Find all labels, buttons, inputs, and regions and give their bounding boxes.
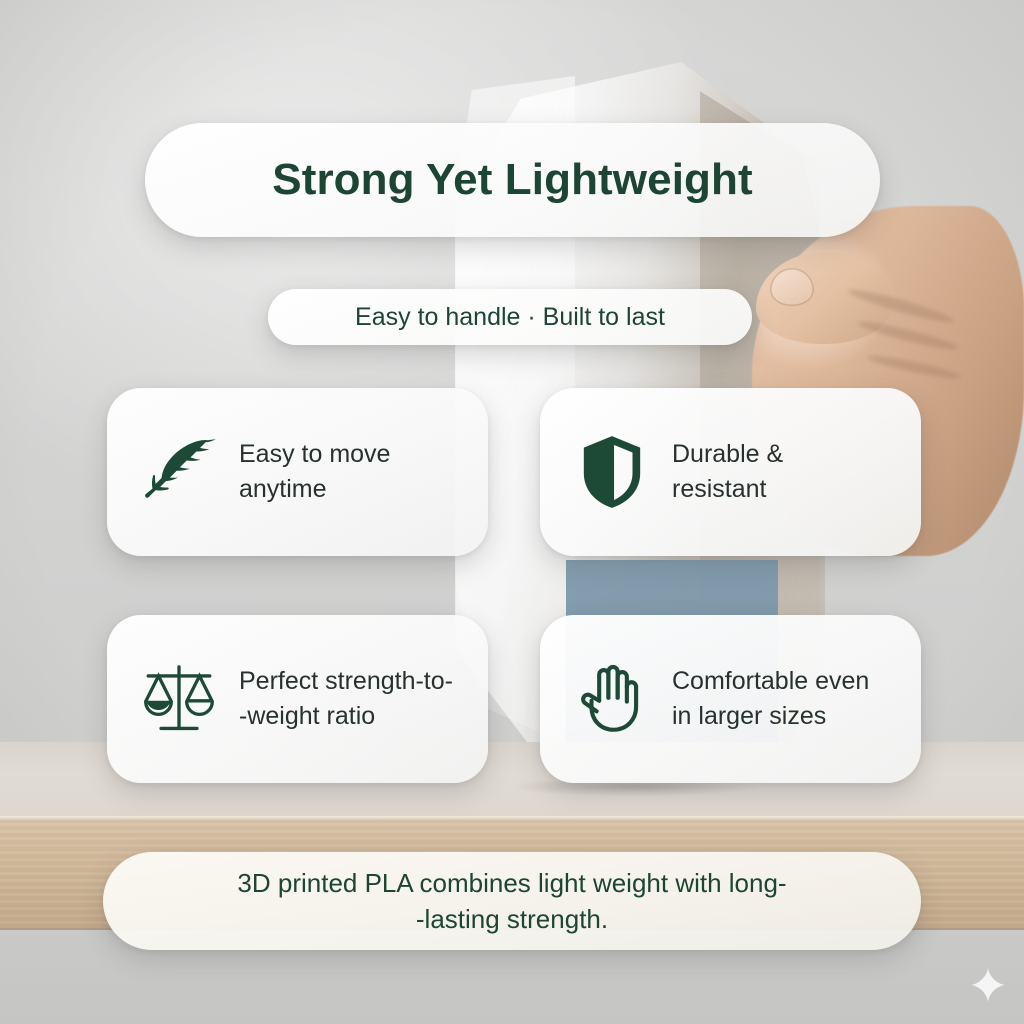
subtitle-banner: Easy to handle · Built to last xyxy=(268,289,752,345)
page-title: Strong Yet Lightweight xyxy=(272,155,753,205)
footer-text: 3D printed PLA combines light weight wit… xyxy=(237,865,786,938)
feature-card-easy-to-move[interactable]: Easy to move anytime xyxy=(107,388,488,556)
infographic-canvas: Strong Yet Lightweight Easy to handle · … xyxy=(0,0,1024,1024)
object-contact-shadow xyxy=(470,780,800,802)
shield-icon xyxy=(566,426,658,518)
shelf-edge-highlight xyxy=(0,816,1024,821)
feature-card-label: Comfortable even in larger sizes xyxy=(672,664,869,735)
feature-card-grid: Easy to move anytime Durable & resistant xyxy=(107,388,921,783)
feature-card-label: Easy to move anytime xyxy=(239,437,390,508)
feature-card-strength-to-weight[interactable]: Perfect strength-to- -weight ratio xyxy=(107,615,488,783)
open-hand-icon xyxy=(566,653,658,745)
feature-card-label: Perfect strength-to- -weight ratio xyxy=(239,664,470,735)
feather-icon xyxy=(133,426,225,518)
title-banner: Strong Yet Lightweight xyxy=(145,123,880,237)
feature-card-label: Durable & resistant xyxy=(672,437,783,508)
thumb-nail xyxy=(770,268,814,306)
feature-card-durable[interactable]: Durable & resistant xyxy=(540,388,921,556)
sparkle-icon xyxy=(968,966,1008,1006)
feature-card-comfortable[interactable]: Comfortable even in larger sizes xyxy=(540,615,921,783)
footer-banner: 3D printed PLA combines light weight wit… xyxy=(103,852,921,950)
page-subtitle: Easy to handle · Built to last xyxy=(355,303,665,332)
balance-scale-icon xyxy=(133,653,225,745)
